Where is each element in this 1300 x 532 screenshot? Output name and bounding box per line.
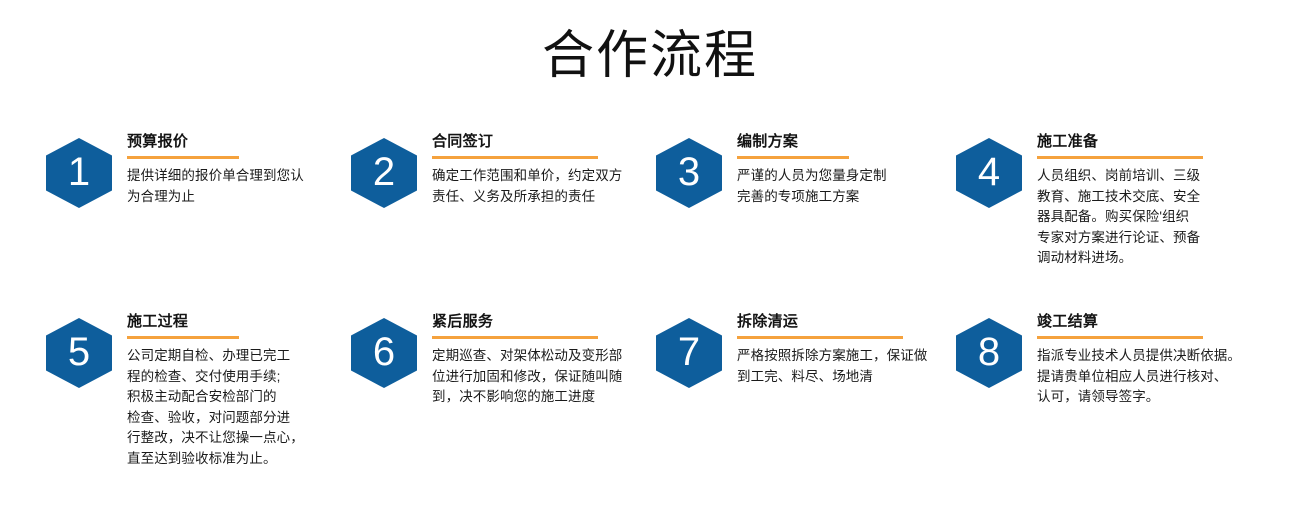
step-underline-2 xyxy=(432,156,598,159)
hexagon-badge-8: 8 xyxy=(956,318,1022,388)
step-text-1: 预算报价 提供详细的报价单合理到您认 为合理为止 xyxy=(127,130,351,207)
step-number-2: 2 xyxy=(351,138,417,208)
step-number-4: 4 xyxy=(956,138,1022,208)
step-item-6: 6 紧后服务 定期巡查、对架体松动及变形部 位进行加固和修改，保证随叫随 到，决… xyxy=(351,310,656,469)
step-underline-4 xyxy=(1037,156,1203,159)
step-underline-6 xyxy=(432,336,598,339)
step-number-1: 1 xyxy=(46,138,112,208)
step-item-7: 7 拆除清运 严格按照拆除方案施工，保证做 到工完、料尽、场地清 xyxy=(656,310,956,469)
step-item-1: 1 预算报价 提供详细的报价单合理到您认 为合理为止 xyxy=(46,130,351,310)
step-item-3: 3 编制方案 严谨的人员为您量身定制 完善的专项施工方案 xyxy=(656,130,956,310)
step-text-3: 编制方案 严谨的人员为您量身定制 完善的专项施工方案 xyxy=(737,130,956,207)
step-title-5: 施工过程 xyxy=(127,312,351,332)
step-item-2: 2 合同签订 确定工作范围和单价，约定双方 责任、义务及所承担的责任 xyxy=(351,130,656,310)
step-body-3: 严谨的人员为您量身定制 完善的专项施工方案 xyxy=(737,166,909,207)
step-number-3: 3 xyxy=(656,138,722,208)
step-number-5: 5 xyxy=(46,318,112,388)
step-body-6: 定期巡查、对架体松动及变形部 位进行加固和修改，保证随叫随 到，决不影响您的施工… xyxy=(432,346,656,408)
steps-grid: 1 预算报价 提供详细的报价单合理到您认 为合理为止 2 合同签订 确定工作范围… xyxy=(0,130,1300,469)
step-text-7: 拆除清运 严格按照拆除方案施工，保证做 到工完、料尽、场地清 xyxy=(737,310,956,387)
step-body-1: 提供详细的报价单合理到您认 为合理为止 xyxy=(127,166,329,207)
hexagon-badge-5: 5 xyxy=(46,318,112,388)
step-underline-1 xyxy=(127,156,239,159)
step-underline-3 xyxy=(737,156,849,159)
step-title-2: 合同签订 xyxy=(432,132,656,152)
step-underline-7 xyxy=(737,336,903,339)
step-text-8: 竣工结算 指派专业技术人员提供决断依据。 提请贵单位相应人员进行核对、 认可，请… xyxy=(1037,310,1256,408)
step-body-5: 公司定期自检、办理已完工 程的检查、交付使用手续; 积极主动配合安检部门的 检查… xyxy=(127,346,329,469)
step-underline-5 xyxy=(127,336,239,339)
step-text-5: 施工过程 公司定期自检、办理已完工 程的检查、交付使用手续; 积极主动配合安检部… xyxy=(127,310,351,469)
step-text-4: 施工准备 人员组织、岗前培训、三级 教育、施工技术交底、安全 器具配备。购买保险… xyxy=(1037,130,1256,269)
hexagon-badge-3: 3 xyxy=(656,138,722,208)
hexagon-badge-2: 2 xyxy=(351,138,417,208)
step-title-6: 紧后服务 xyxy=(432,312,656,332)
step-title-8: 竣工结算 xyxy=(1037,312,1256,332)
step-title-3: 编制方案 xyxy=(737,132,956,152)
cooperation-process-infographic: 合作流程 1 预算报价 提供详细的报价单合理到您认 为合理为止 2 合同签订 xyxy=(0,0,1300,532)
step-number-7: 7 xyxy=(656,318,722,388)
step-text-2: 合同签订 确定工作范围和单价，约定双方 责任、义务及所承担的责任 xyxy=(432,130,656,207)
step-body-2: 确定工作范围和单价，约定双方 责任、义务及所承担的责任 xyxy=(432,166,656,207)
step-title-7: 拆除清运 xyxy=(737,312,956,332)
step-title-1: 预算报价 xyxy=(127,132,351,152)
step-title-4: 施工准备 xyxy=(1037,132,1256,152)
page-title: 合作流程 xyxy=(542,24,758,88)
step-number-6: 6 xyxy=(351,318,417,388)
step-item-4: 4 施工准备 人员组织、岗前培训、三级 教育、施工技术交底、安全 器具配备。购买… xyxy=(956,130,1256,310)
hexagon-badge-6: 6 xyxy=(351,318,417,388)
page-title-container: 合作流程 xyxy=(0,24,1300,88)
step-item-8: 8 竣工结算 指派专业技术人员提供决断依据。 提请贵单位相应人员进行核对、 认可… xyxy=(956,310,1256,469)
hexagon-badge-7: 7 xyxy=(656,318,722,388)
step-underline-8 xyxy=(1037,336,1203,339)
hexagon-badge-4: 4 xyxy=(956,138,1022,208)
step-text-6: 紧后服务 定期巡查、对架体松动及变形部 位进行加固和修改，保证随叫随 到，决不影… xyxy=(432,310,656,408)
step-body-7: 严格按照拆除方案施工，保证做 到工完、料尽、场地清 xyxy=(737,346,961,387)
hexagon-badge-1: 1 xyxy=(46,138,112,208)
step-body-4: 人员组织、岗前培训、三级 教育、施工技术交底、安全 器具配备。购买保险'组织 专… xyxy=(1037,166,1256,269)
step-number-8: 8 xyxy=(956,318,1022,388)
step-body-8: 指派专业技术人员提供决断依据。 提请贵单位相应人员进行核对、 认可，请领导签字。 xyxy=(1037,346,1261,408)
step-item-5: 5 施工过程 公司定期自检、办理已完工 程的检查、交付使用手续; 积极主动配合安… xyxy=(46,310,351,469)
